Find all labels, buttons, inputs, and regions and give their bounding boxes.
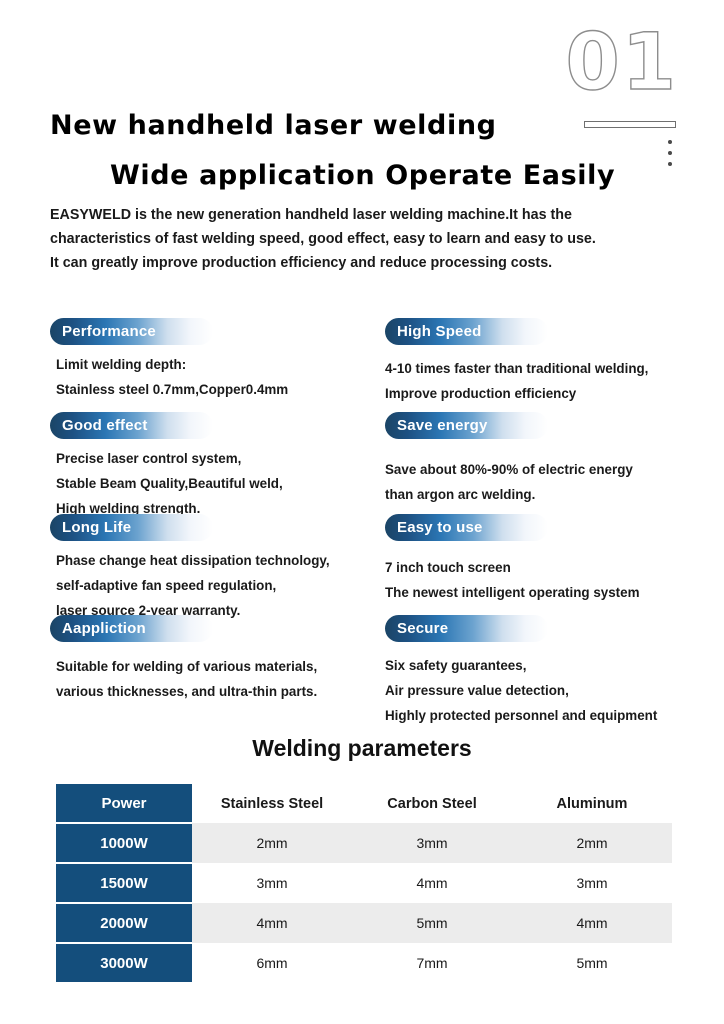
dot-icon (668, 140, 672, 144)
feature-line: Limit welding depth: (50, 352, 380, 377)
table-cell-stainless: 2mm (192, 823, 352, 863)
features-section: Performance Limit welding depth: Stainle… (0, 318, 724, 718)
table-header-power: Power (56, 784, 192, 823)
feature-line: Stable Beam Quality,Beautiful weld, (50, 471, 380, 496)
feature-pill-easy-to-use: Easy to use (385, 514, 548, 541)
intro-line-2: characteristics of fast welding speed, g… (50, 227, 675, 251)
feature-body: Save about 80%-90% of electric energy th… (385, 457, 715, 507)
feature-pill-high-speed: High Speed (385, 318, 548, 345)
feature-line: Six safety guarantees, (385, 653, 715, 678)
table-cell-carbon: 3mm (352, 823, 512, 863)
table-header-row: Power Stainless Steel Carbon Steel Alumi… (56, 784, 672, 823)
table-cell-aluminum: 4mm (512, 903, 672, 943)
feature-line: self-adaptive fan speed regulation, (50, 573, 380, 598)
feature-line: Improve production efficiency (385, 381, 715, 406)
feature-application: Aappliction Suitable for welding of vari… (50, 615, 380, 704)
feature-line: various thicknesses, and ultra-thin part… (50, 679, 380, 704)
table-cell-carbon: 4mm (352, 863, 512, 903)
table-cell-carbon: 7mm (352, 943, 512, 982)
feature-title: Save energy (385, 417, 488, 434)
feature-body: Suitable for welding of various material… (50, 654, 380, 704)
intro-paragraph: EASYWELD is the new generation handheld … (50, 203, 675, 275)
table-cell-power: 2000W (56, 903, 192, 943)
table-row: 3000W 6mm 7mm 5mm (56, 943, 672, 982)
feature-line: Save about 80%-90% of electric energy (385, 457, 715, 482)
table-title: Welding parameters (0, 735, 724, 762)
feature-pill-application: Aappliction (50, 615, 213, 642)
table-row: 1500W 3mm 4mm 3mm (56, 863, 672, 903)
feature-line: Highly protected personnel and equipment (385, 703, 715, 728)
table-cell-stainless: 3mm (192, 863, 352, 903)
intro-line-3: It can greatly improve production effici… (50, 251, 675, 275)
feature-title: High Speed (385, 323, 482, 340)
table-cell-power: 1500W (56, 863, 192, 903)
feature-pill-performance: Performance (50, 318, 213, 345)
decor-number-outline: 01 (565, 24, 678, 102)
feature-performance: Performance Limit welding depth: Stainle… (50, 318, 380, 402)
feature-pill-good-effect: Good effect (50, 412, 213, 439)
feature-pill-save-energy: Save energy (385, 412, 548, 439)
feature-body: Phase change heat dissipation technology… (50, 548, 380, 623)
feature-line: Air pressure value detection, (385, 678, 715, 703)
feature-title: Long Life (50, 519, 131, 536)
feature-good-effect: Good effect Precise laser control system… (50, 412, 380, 521)
feature-line: Suitable for welding of various material… (50, 654, 380, 679)
feature-body: Six safety guarantees, Air pressure valu… (385, 653, 715, 728)
feature-line: 4-10 times faster than traditional weldi… (385, 356, 715, 381)
table-cell-aluminum: 3mm (512, 863, 672, 903)
feature-title: Secure (385, 620, 448, 637)
horizontal-bar-icon (584, 121, 676, 128)
feature-line: 7 inch touch screen (385, 555, 715, 580)
feature-line: Stainless steel 0.7mm,Copper0.4mm (50, 377, 380, 402)
feature-title: Good effect (50, 417, 148, 434)
feature-long-life: Long Life Phase change heat dissipation … (50, 514, 380, 623)
feature-pill-secure: Secure (385, 615, 548, 642)
feature-title: Aappliction (50, 620, 146, 637)
table-row: 1000W 2mm 3mm 2mm (56, 823, 672, 863)
feature-line: Phase change heat dissipation technology… (50, 548, 380, 573)
table-header-carbon: Carbon Steel (352, 784, 512, 823)
feature-high-speed: High Speed 4-10 times faster than tradit… (385, 318, 715, 406)
feature-body: Limit welding depth: Stainless steel 0.7… (50, 352, 380, 402)
table-row: 2000W 4mm 5mm 4mm (56, 903, 672, 943)
feature-line: The newest intelligent operating system (385, 580, 715, 605)
table-cell-power: 1000W (56, 823, 192, 863)
feature-body: Precise laser control system, Stable Bea… (50, 446, 380, 521)
feature-save-energy: Save energy Save about 80%-90% of electr… (385, 412, 715, 507)
vertical-dots-icon (668, 140, 672, 166)
feature-body: 7 inch touch screen The newest intellige… (385, 555, 715, 605)
feature-title: Easy to use (385, 519, 483, 536)
table-cell-aluminum: 5mm (512, 943, 672, 982)
feature-easy-to-use: Easy to use 7 inch touch screen The newe… (385, 514, 715, 605)
dot-icon (668, 162, 672, 166)
table-cell-aluminum: 2mm (512, 823, 672, 863)
welding-parameters-table: Power Stainless Steel Carbon Steel Alumi… (56, 784, 672, 982)
feature-pill-long-life: Long Life (50, 514, 213, 541)
table-cell-stainless: 4mm (192, 903, 352, 943)
feature-secure: Secure Six safety guarantees, Air pressu… (385, 615, 715, 728)
table-cell-carbon: 5mm (352, 903, 512, 943)
feature-line: Precise laser control system, (50, 446, 380, 471)
decor-number-block: 01 (558, 24, 678, 164)
intro-line-1: EASYWELD is the new generation handheld … (50, 203, 675, 227)
table-header-aluminum: Aluminum (512, 784, 672, 823)
dot-icon (668, 151, 672, 155)
page-title-line-2: Wide application Operate Easily (110, 160, 615, 191)
feature-body: 4-10 times faster than traditional weldi… (385, 356, 715, 406)
feature-line: than argon arc welding. (385, 482, 715, 507)
page-title-line-1: New handheld laser welding (50, 110, 497, 141)
table-header-stainless: Stainless Steel (192, 784, 352, 823)
table-cell-stainless: 6mm (192, 943, 352, 982)
feature-title: Performance (50, 323, 156, 340)
table-cell-power: 3000W (56, 943, 192, 982)
